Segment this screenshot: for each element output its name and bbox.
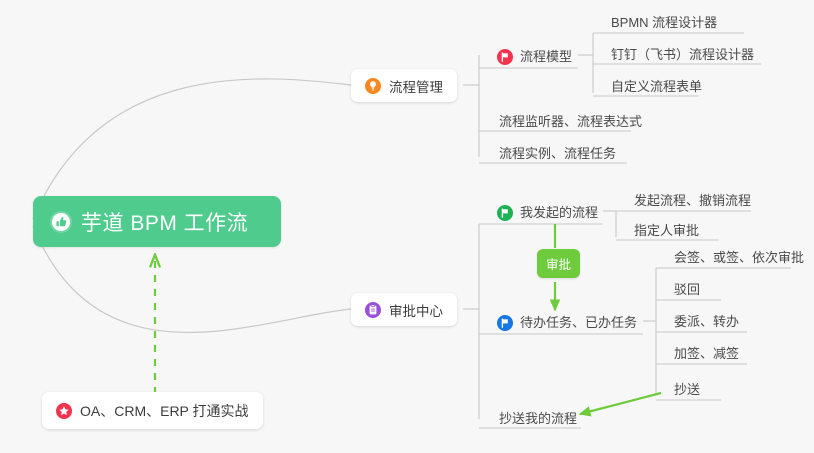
annotation-approval-pill-label: 审批 [546,258,571,272]
leaf-label-delegate-transfer: 委派、转办 [674,314,739,329]
leaf-cc-to-me-process[interactable]: 抄送我的流程 [489,408,587,432]
branch-label-approval-center: 审批中心 [389,300,443,320]
star-icon [56,403,72,419]
leaf-label-start-cancel-process: 发起流程、撤销流程 [634,193,751,208]
leaf-assignee-approval[interactable]: 指定人审批 [624,220,709,244]
leaf-cc[interactable]: 抄送 [664,379,710,403]
leaf-process-instance-task[interactable]: 流程实例、流程任务 [489,143,626,167]
leaf-label-dingtalk-feishu-designer: 钉钉（飞书）流程设计器 [611,47,754,62]
leaf-label-process-model: 流程模型 [520,49,572,65]
leaf-dingtalk-feishu-designer[interactable]: 钉钉（飞书）流程设计器 [601,44,764,68]
leaf-process-model[interactable]: 流程模型 [489,46,582,70]
leaf-label-add-remove-sign: 加签、减签 [674,346,739,361]
leaf-label-bpmn-designer: BPMN 流程设计器 [611,15,717,30]
arrow-cc-to-process [580,393,661,414]
leaf-add-remove-sign[interactable]: 加签、减签 [664,343,749,367]
annotation-integration-note[interactable]: OA、CRM、ERP 打通实战 [42,392,263,429]
clipboard-icon [365,302,381,318]
lightbulb-pin-icon [365,78,381,94]
leaf-label-my-initiated-process: 我发起的流程 [520,205,598,221]
leaf-bpmn-designer[interactable]: BPMN 流程设计器 [601,12,727,36]
leaf-my-initiated-process[interactable]: 我发起的流程 [489,202,608,226]
annotation-integration-note-label: OA、CRM、ERP 打通实战 [80,401,249,421]
leaf-label-assignee-approval: 指定人审批 [634,223,699,238]
branch-node-approval-center[interactable]: 审批中心 [351,293,457,326]
leaf-label-countersign: 会签、或签、依次审批 [674,250,804,265]
leaf-label-cc: 抄送 [674,382,700,397]
leaf-label-todo-done-task: 待办任务、已办任务 [520,315,637,331]
leaf-start-cancel-process[interactable]: 发起流程、撤销流程 [624,190,761,214]
leaf-countersign[interactable]: 会签、或签、依次审批 [664,247,814,271]
leaf-todo-done-task[interactable]: 待办任务、已办任务 [489,312,647,336]
leaf-process-listener-expression[interactable]: 流程监听器、流程表达式 [489,111,652,135]
leaf-label-cc-to-me-process: 抄送我的流程 [499,411,577,426]
flag-icon [497,315,513,331]
thumbs-up-icon [50,211,72,233]
root-label: 芋道 BPM 工作流 [81,207,248,237]
leaf-label-reject: 驳回 [674,282,700,297]
leaf-label-process-instance-task: 流程实例、流程任务 [499,146,616,161]
flag-icon [497,205,513,221]
leaf-custom-process-form[interactable]: 自定义流程表单 [601,76,712,100]
root-node[interactable]: 芋道 BPM 工作流 [33,196,281,247]
leaf-reject[interactable]: 驳回 [664,279,710,303]
mindmap-canvas: 芋道 BPM 工作流 流程管理 审批中心 [0,0,814,453]
leaf-label-custom-process-form: 自定义流程表单 [611,79,702,94]
flag-icon [497,49,513,65]
branch-label-process-management: 流程管理 [389,76,443,96]
branch-node-process-management[interactable]: 流程管理 [351,69,457,102]
leaf-delegate-transfer[interactable]: 委派、转办 [664,311,749,335]
leaf-label-process-listener-expression: 流程监听器、流程表达式 [499,114,642,129]
annotation-approval-pill[interactable]: 审批 [537,249,580,278]
